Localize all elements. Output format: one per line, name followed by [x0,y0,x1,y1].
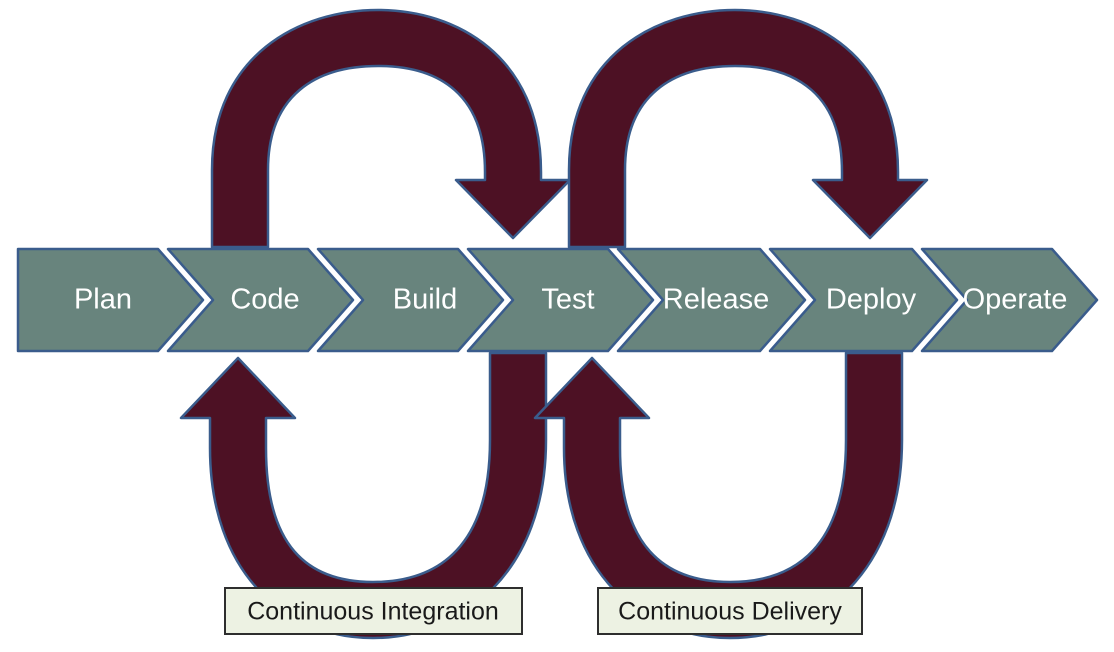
loop-label-continuous-delivery: Continuous Delivery [618,598,842,626]
top-loop-arrows [212,10,927,247]
stage-label-build: Build [393,284,458,316]
loop-caption-boxes: Continuous Integration Continuous Delive… [225,588,862,634]
ci-top-arrow-icon [212,10,570,247]
devops-pipeline-diagram: Plan Code Build Test Release Deploy Oper… [0,0,1114,652]
stage-label-plan: Plan [74,284,132,316]
diagram-canvas: Plan Code Build Test Release Deploy Oper… [0,0,1114,652]
stage-label-deploy: Deploy [826,284,917,316]
loop-label-continuous-integration: Continuous Integration [247,598,499,626]
stage-label-release: Release [663,284,769,316]
stage-label-code: Code [230,284,299,316]
cd-top-arrow-icon [569,10,927,247]
stage-label-operate: Operate [963,284,1068,316]
stage-label-test: Test [541,284,594,316]
